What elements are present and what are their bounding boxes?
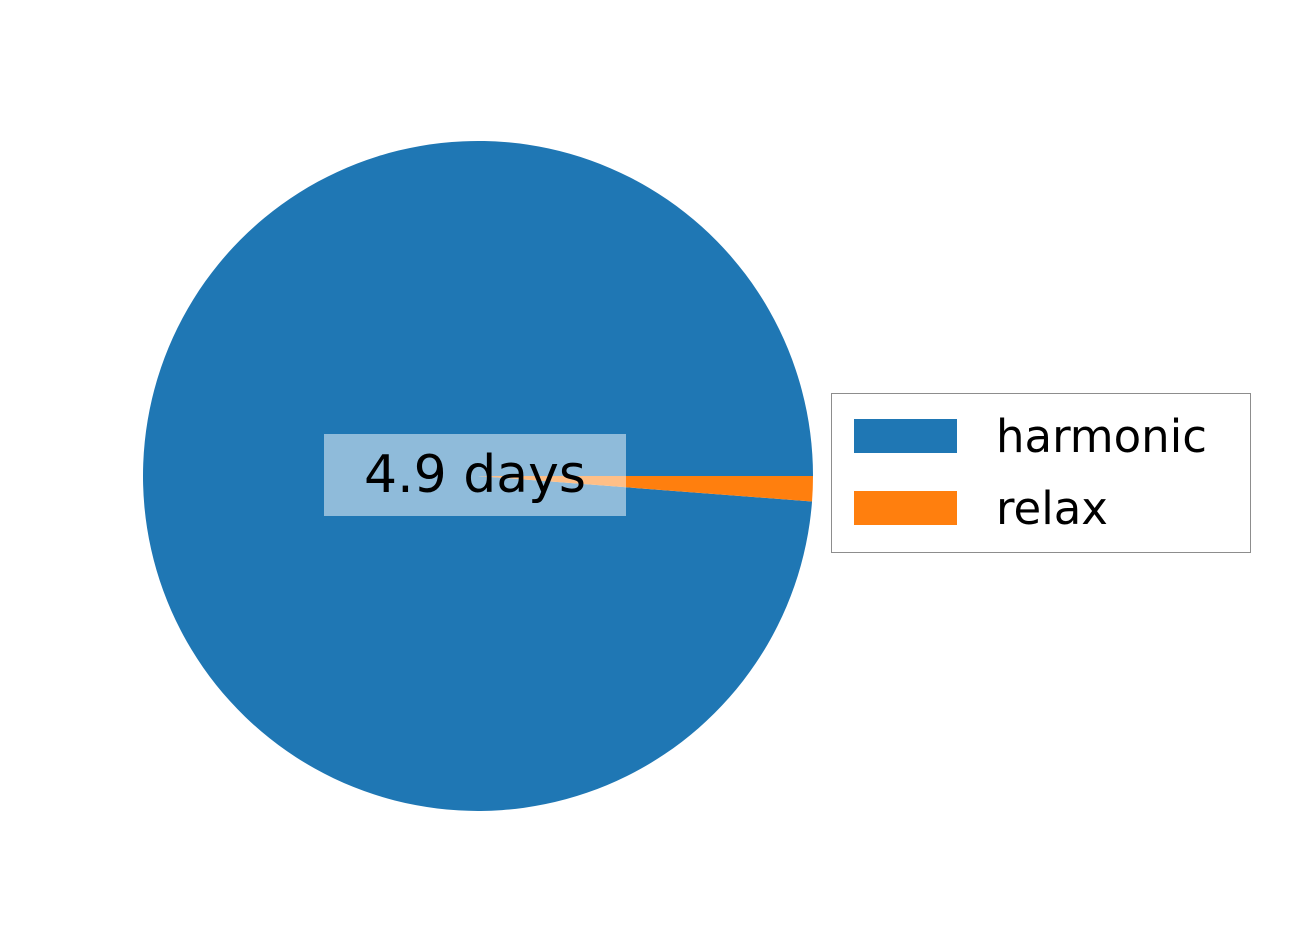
legend-swatch-harmonic — [854, 419, 957, 453]
legend-swatch-relax — [854, 491, 957, 525]
legend-label-relax: relax — [996, 486, 1108, 531]
pie-wedge-label-harmonic: 4.9 days — [324, 434, 626, 516]
legend-item-harmonic[interactable]: harmonic — [854, 418, 1207, 454]
legend-item-relax[interactable]: relax — [854, 490, 1108, 526]
pie-chart-figure: 4.9 days harmonic relax — [0, 0, 1307, 951]
chart-legend: harmonic relax — [831, 393, 1251, 553]
legend-label-harmonic: harmonic — [996, 414, 1207, 459]
